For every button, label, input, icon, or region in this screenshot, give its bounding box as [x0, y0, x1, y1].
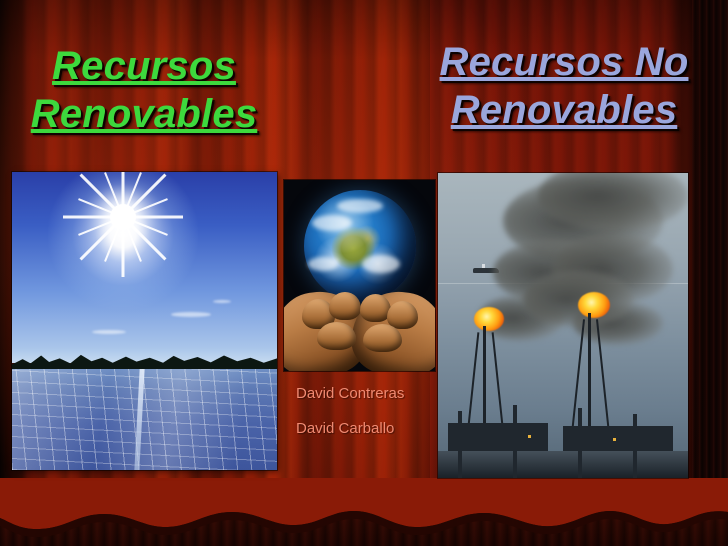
sun-icon	[110, 204, 136, 230]
curtain-hem	[0, 478, 728, 546]
solar-panel-array	[12, 369, 277, 470]
platform-superstructure	[563, 426, 673, 450]
title-right-line1: Recursos No	[440, 40, 689, 84]
presentation-slide: Recursos Renovables Recursos No Renovabl…	[0, 0, 728, 546]
title-left-line2: Renovables	[31, 92, 258, 136]
oil-rig-flare-photo	[438, 173, 688, 478]
platform-superstructure	[448, 423, 548, 450]
cloud-band	[308, 257, 338, 271]
cloud-wisp	[92, 330, 126, 334]
cloud-band	[362, 255, 400, 273]
author-list: David Contreras David Carballo	[296, 385, 446, 455]
title-right-line2: Renovables	[451, 88, 678, 132]
title-left-line1: Recursos	[52, 44, 236, 88]
finger	[329, 292, 361, 320]
gas-flare-right	[578, 292, 610, 318]
finger	[363, 324, 402, 352]
panel-reflection	[12, 369, 277, 470]
cloud-band	[312, 215, 352, 231]
page-title-renewable: Recursos Renovables	[0, 42, 288, 138]
earth-in-hands-photo	[284, 180, 435, 371]
platform-deck	[438, 451, 688, 478]
rig-light	[613, 438, 616, 441]
smoke-plume	[523, 271, 633, 327]
solar-panels-photo	[12, 172, 277, 470]
rig-light	[528, 435, 531, 438]
cloud-band	[337, 199, 383, 213]
hands-holding-earth	[284, 283, 435, 371]
author-name: David Carballo	[296, 420, 446, 438]
author-name: David Contreras	[296, 385, 446, 403]
page-title-nonrenewable: Recursos No Renovables	[424, 38, 704, 134]
